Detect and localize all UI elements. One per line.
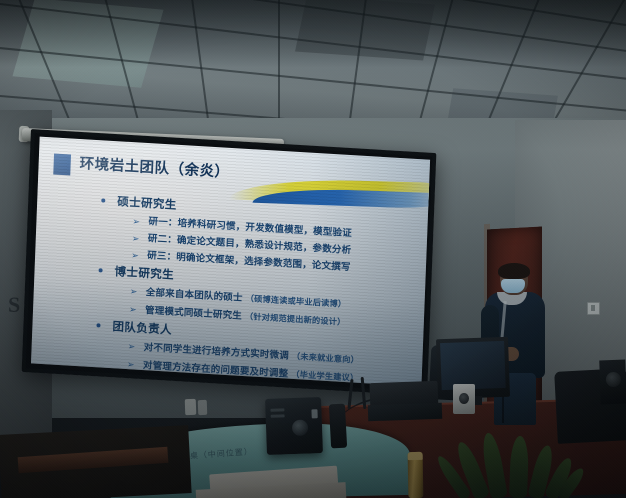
bullet-note: （硕博连读或毕业后读博） — [242, 293, 346, 309]
plant-leaf — [509, 436, 529, 498]
projector-port-icon — [311, 409, 317, 418]
wall-letter-text: S — [8, 296, 21, 313]
desktop-device[interactable] — [453, 384, 475, 414]
bullet-dot-icon — [99, 268, 103, 272]
bullet-arrow-icon: ➢ — [131, 248, 139, 264]
slide-title: 环境岩土团队（余炎） — [79, 152, 230, 182]
slide-body: 硕士研究生➢研一：培养科研习惯，开发数值模型，模型验证➢研二：确定论文题目，熟悉… — [31, 189, 428, 381]
gold-thermos[interactable] — [408, 452, 424, 498]
projector-vent-icon-2 — [271, 414, 285, 417]
bullet-text: 管理模式同硕士研究生 — [145, 305, 242, 322]
bullet-text: 全部来自本团队的硕士 — [146, 287, 243, 304]
projector-unit[interactable] — [265, 397, 323, 455]
power-outlet[interactable] — [185, 399, 197, 415]
power-outlet-secondary[interactable] — [198, 400, 208, 415]
wireless-receiver[interactable] — [329, 404, 347, 449]
bullet-arrow-icon: ➢ — [132, 231, 140, 247]
section-heading-text: 硕士研究生 — [117, 194, 177, 212]
face-mask-icon — [501, 279, 525, 293]
light-switch[interactable] — [587, 302, 600, 315]
audio-speaker[interactable] — [599, 360, 626, 405]
projection-screen[interactable]: 环境岩土团队（余炎） 硕士研究生➢研一：培养科研习惯，开发数值模型，模型验证➢研… — [22, 129, 437, 396]
section-heading-text: 博士研究生 — [114, 264, 174, 282]
presenter-hair — [498, 263, 530, 279]
bullet-arrow-icon: ➢ — [129, 302, 137, 318]
section-heading-text: 团队负责人 — [112, 319, 172, 337]
projector-lens-icon — [292, 420, 309, 437]
bullet-note: （针对规范提出新的设计） — [242, 311, 346, 327]
bullet-note: （未来就业意向） — [289, 351, 359, 365]
potted-plant — [455, 430, 585, 498]
speaker-cone-icon — [606, 372, 622, 388]
title-accent-tab — [53, 153, 71, 175]
thermos-cap — [408, 452, 423, 460]
bullet-dot-icon — [96, 323, 100, 327]
room-photo: S 环境岩土团队（余炎） 硕士研究生➢研一：培养科研习惯，开发数值模型，模型验证… — [0, 0, 626, 498]
bullet-arrow-icon: ➢ — [132, 214, 140, 230]
slide-canvas: 环境岩土团队（余炎） 硕士研究生➢研一：培养科研习惯，开发数值模型，模型验证➢研… — [31, 137, 430, 387]
projector-vent-icon — [270, 408, 284, 411]
bullet-arrow-icon: ➢ — [129, 284, 137, 300]
bullet-arrow-icon: ➢ — [127, 339, 135, 355]
device-dial-icon[interactable] — [459, 393, 469, 404]
bullet-dot-icon — [101, 198, 105, 202]
computer-base-unit — [368, 403, 443, 422]
